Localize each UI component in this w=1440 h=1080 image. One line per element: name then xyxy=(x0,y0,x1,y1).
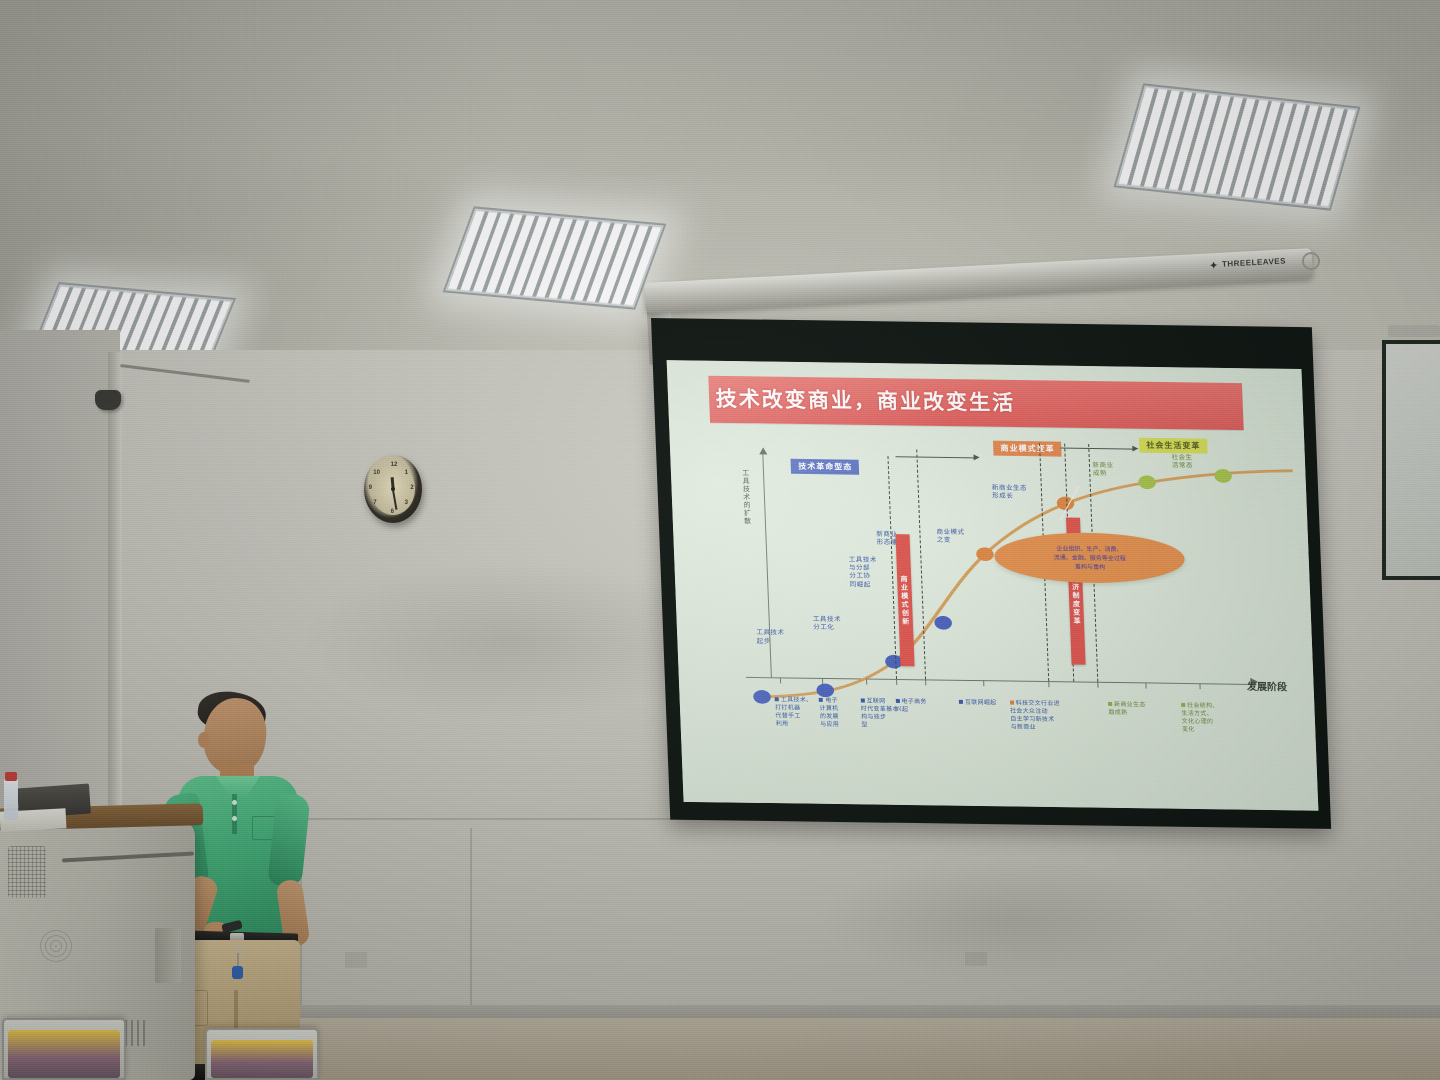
wall-seam xyxy=(470,828,472,1010)
chart-point xyxy=(1138,475,1156,489)
phase-banner-technology: 技术革命型态 xyxy=(791,458,860,474)
louver-grille xyxy=(448,211,661,306)
point-label: 新商业 成熟 xyxy=(1092,461,1114,478)
point-label: 新商业生态 形成长 xyxy=(992,484,1028,501)
bullet-icon xyxy=(1108,702,1112,706)
point-label: 社会生 活常态 xyxy=(1171,453,1193,470)
ellipse-annotation: 企业组织、生产、消费、 流通、金融、服务等全过程 重构与重构 xyxy=(994,532,1186,585)
bullet-icon xyxy=(895,699,899,703)
slide-chart: 工具技术的扩散 发展阶段 xyxy=(669,431,1318,811)
water-bottle-cap xyxy=(5,772,17,781)
presenter-ear xyxy=(198,732,210,748)
chart-point xyxy=(934,616,952,630)
bullet-icon xyxy=(1010,701,1014,705)
screen-brand-label: THREELEAVES xyxy=(1222,256,1286,268)
phase-banner-business: 商业模式变革 xyxy=(993,441,1062,457)
axis-tick xyxy=(822,678,823,684)
water-bottle xyxy=(4,778,18,820)
clock-number: 7 xyxy=(373,500,376,506)
axis-tick xyxy=(866,678,867,684)
slide-title: 技术改变商业，商业改变生活 xyxy=(715,383,1016,417)
phase-banner-society: 社会生活变革 xyxy=(1139,437,1208,453)
chair-cushion xyxy=(8,1030,120,1078)
axis-annotation-text: 科技交文行业进 社会大众注动 自主学习新技术 与新商业 xyxy=(1010,700,1060,732)
axis-tick xyxy=(1048,681,1049,687)
lectern-side-panel[interactable] xyxy=(155,928,181,983)
clock-center-pin xyxy=(391,487,395,491)
lectern-speaker-grille xyxy=(8,846,46,898)
presenter-shirt-button xyxy=(232,800,237,805)
presenter-shirt-button xyxy=(232,816,237,821)
point-label: 商业模式 之变 xyxy=(936,527,965,544)
axis-annotation: 电子 计算机 的发展 与应用 xyxy=(819,689,865,730)
axis-tick xyxy=(1098,682,1099,688)
point-label: 工具技术 分工化 xyxy=(813,615,842,632)
bullet-icon xyxy=(775,698,779,702)
point-label: 工具技术 与分部 分工协 同崛起 xyxy=(849,556,878,589)
axis-annotation-text: 新商业生态 趋成熟 xyxy=(1108,701,1146,716)
window-frame xyxy=(1382,340,1440,580)
chart-point xyxy=(753,690,771,704)
clock-number: 3 xyxy=(405,500,408,506)
chart-point xyxy=(1214,469,1232,483)
axis-annotation: 新商业生态 趋成熟 xyxy=(1108,693,1166,718)
projection-screen: 技术改变商业，商业改变生活 工具技术的扩散 发展阶段 xyxy=(651,318,1331,829)
bullet-icon xyxy=(959,700,963,704)
clock-number: 2 xyxy=(410,485,413,491)
axis-tick xyxy=(1199,683,1200,689)
presenter xyxy=(168,690,378,1080)
screen-surface: 技术改变商业，商业改变生活 工具技术的扩散 发展阶段 xyxy=(667,360,1319,811)
key-fob-icon xyxy=(232,966,243,979)
ellipse-annotation-text: 企业组织、生产、消费、 流通、金融、服务等全过程 重构与重构 xyxy=(994,532,1186,585)
axis-annotation-text: 互联网 时代变革基本 构与技步 型 xyxy=(861,698,899,729)
axis-annotation-text: 电子商务 兴起 xyxy=(896,698,927,713)
bullet-icon xyxy=(819,698,823,702)
threeleaves-logo-icon: ✦ xyxy=(1209,261,1221,273)
axis-annotation-text: 社会结构、 生活方式、 文化心理的 变化 xyxy=(1181,702,1219,733)
axis-annotation: 社会结构、 生活方式、 文化心理的 变化 xyxy=(1181,694,1246,735)
chair-back xyxy=(2,1018,126,1080)
axis-annotation: 科技交文行业进 社会大众注动 自主学习新技术 与新商业 xyxy=(1009,691,1080,732)
chair-back xyxy=(205,1028,319,1080)
louver-grille xyxy=(1118,88,1355,207)
clock-number: 6 xyxy=(391,509,394,515)
point-label: 工具技术 起步 xyxy=(756,629,785,646)
axis-tick xyxy=(1145,682,1146,688)
keyring-icon xyxy=(234,944,245,955)
clock-number: 9 xyxy=(369,485,372,491)
axis-tick xyxy=(925,679,926,685)
axis-annotation-text: 互联网崛起 xyxy=(965,699,997,706)
clock-number: 1 xyxy=(405,470,408,476)
presentation-slide: 技术改变商业，商业改变生活 工具技术的扩散 发展阶段 xyxy=(667,360,1319,811)
axis-tick xyxy=(896,679,897,685)
chair-cushion xyxy=(211,1040,313,1078)
bullet-icon xyxy=(860,699,864,703)
window-glass xyxy=(1386,344,1440,576)
clock-number: 12 xyxy=(391,462,398,468)
photo-scene: 12 1 2 3 6 7 9 10 ✦ THREELEAVES 技术改变商业，商… xyxy=(0,0,1440,1080)
ceiling-security-camera xyxy=(95,390,121,410)
bullet-icon xyxy=(1181,703,1185,707)
axis-tick xyxy=(780,677,781,683)
axis-tick xyxy=(983,680,984,686)
clock-number: 10 xyxy=(373,470,380,476)
presenter-keychain xyxy=(232,944,242,984)
wall-outlet xyxy=(965,952,987,966)
wall-clock: 12 1 2 3 6 7 9 10 xyxy=(364,455,422,523)
window-rail xyxy=(1388,325,1440,337)
ceiling-light-center xyxy=(443,206,667,309)
lectern-emblem xyxy=(40,930,72,962)
axis-annotation: 电子商务 兴起 xyxy=(895,690,934,715)
axis-annotation-text: 工具技术、 打打机器 代替手工 利用 xyxy=(775,696,813,727)
